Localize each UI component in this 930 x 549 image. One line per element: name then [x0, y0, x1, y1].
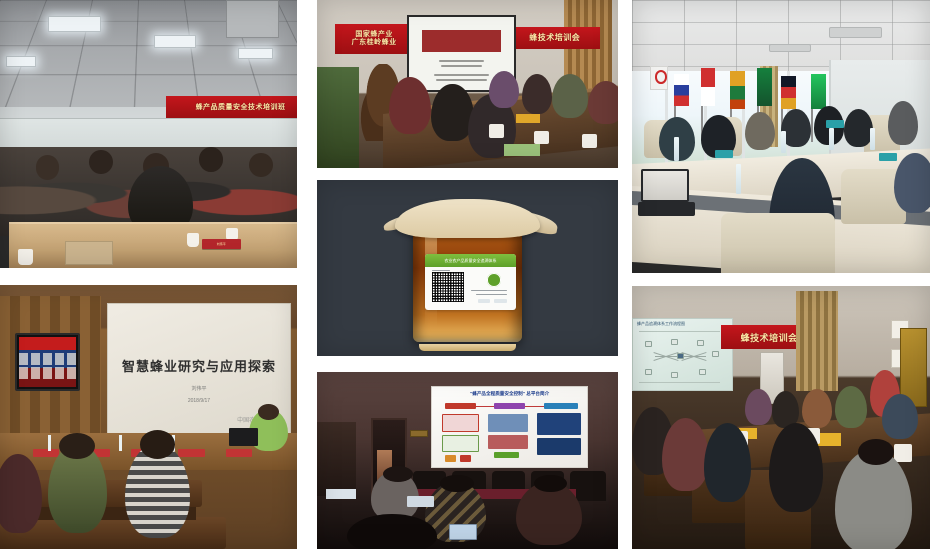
yellow-folder: [516, 114, 540, 122]
tea-cup: [582, 134, 597, 147]
attendee-head: [89, 150, 113, 174]
network-node: [645, 341, 652, 347]
foreground-attendee: [769, 423, 823, 512]
scene-honey-jar: 农业农产品质量安全追溯体系: [317, 180, 618, 356]
water-bottle: [829, 128, 834, 150]
flag: [811, 74, 826, 109]
attendee: [522, 74, 552, 114]
network-node: [645, 369, 652, 375]
slide-panel: [442, 435, 479, 452]
teal-box: [715, 150, 733, 158]
slide-title: 智慧蜂业研究与应用探索: [108, 356, 290, 375]
bookshelf: [317, 422, 356, 496]
ceiling-light: [48, 16, 101, 32]
photo-bottom-center[interactable]: "蜂产品全程质量安全控制" 总平台简介: [317, 372, 618, 549]
wall-tv[interactable]: [15, 333, 80, 391]
name-plate: 刘伟平: [202, 239, 241, 250]
slide-icon: [494, 452, 519, 458]
scene-meeting-room: 国家蜂产业 广东桂岭蜂业 蜂技术培训会: [317, 0, 618, 168]
office-chair-foreground: [721, 213, 834, 273]
qr-code: [432, 272, 465, 301]
jar-base: [419, 344, 515, 351]
slide-node: [544, 403, 578, 409]
attendee-head: [36, 155, 60, 179]
slide-panel: [488, 435, 528, 449]
projection-screen: 蜂产品追溯体系工作流程图: [632, 318, 733, 392]
slide-panel: [537, 438, 580, 455]
laptop-keyboard[interactable]: [638, 202, 695, 216]
attendee: [489, 71, 519, 108]
tea-cup: [894, 444, 912, 462]
tea-cup: [489, 124, 504, 137]
slide-date: 2018/9/17: [108, 398, 290, 404]
ceiling-light: [154, 35, 196, 48]
flag: [730, 71, 745, 109]
flag: [701, 68, 716, 106]
ac-unit: [226, 0, 279, 38]
attendee-head: [199, 147, 223, 171]
yellow-folder: [817, 433, 841, 446]
attendee: [588, 81, 618, 125]
scene-training-meeting: 蜂产品追溯体系工作流程图 蜂技术培训会: [632, 286, 930, 549]
standing-photographer: [888, 101, 918, 145]
banner-right: 蜂技术培训会: [510, 27, 600, 49]
attendee-head: [249, 153, 273, 177]
flag: [674, 74, 689, 107]
photo-center-honey-jar[interactable]: 农业农产品质量安全追溯体系: [317, 180, 618, 356]
banner-left: 国家蜂产业 广东桂岭蜂业: [335, 24, 413, 54]
audience-head: [440, 475, 473, 493]
ceiling-light: [6, 56, 36, 67]
attendee: [894, 153, 930, 213]
presenter-head: [258, 404, 279, 420]
laptop-screen: [407, 496, 434, 507]
side-cabinet: [317, 67, 359, 168]
wall-plaque: [410, 430, 428, 437]
projection-screen: "蜂产品全程质量安全控制" 总平台简介: [431, 386, 588, 467]
audience-head: [383, 466, 413, 482]
paper-cup: [18, 249, 33, 265]
attendee: [745, 389, 772, 426]
water-bottle: [736, 164, 741, 194]
cardboard-box: [65, 241, 113, 265]
network-node: [712, 351, 719, 357]
flag: [757, 68, 772, 106]
slide-title-block: [422, 30, 501, 52]
slide-panel: [488, 414, 528, 431]
slide-node: [494, 403, 525, 409]
scene-lecture-hall: 智慧蜂业研究与应用探索 刘伟平 2018/9/17 中国农业科学院: [0, 285, 297, 549]
banner-left-line2: 广东桂岭蜂业: [352, 39, 397, 46]
attendee: [882, 394, 918, 439]
teal-box: [826, 120, 844, 128]
name-plate: [226, 449, 253, 457]
slide-panel: [442, 414, 479, 431]
network-node: [671, 372, 678, 378]
cloth-jar-cover: [395, 199, 539, 238]
network-node: [697, 340, 704, 346]
banner-top-left: 蜂产品质量安全技术培训班: [166, 96, 297, 117]
slide-node: [445, 403, 476, 409]
attendee: [745, 112, 775, 150]
audience-head: [534, 475, 567, 493]
laptop-screen[interactable]: [641, 169, 689, 202]
air-vent: [829, 27, 883, 38]
table-papers: [326, 489, 356, 500]
network-node: [671, 339, 678, 345]
window-curtain: [796, 291, 838, 391]
scene-dark-presentation: "蜂产品全程质量安全控制" 总平台简介: [317, 372, 618, 549]
presenter-laptop: [229, 428, 259, 446]
attendee: [835, 386, 868, 428]
photo-bottom-right[interactable]: 蜂产品追溯体系工作流程图 蜂技术培训会: [632, 286, 930, 549]
paper-cup: [187, 233, 199, 246]
tea-cup: [534, 131, 549, 144]
flag: [781, 76, 796, 109]
green-seal-logo: [487, 273, 501, 287]
name-plate: [178, 449, 205, 457]
slide-icon: [445, 455, 456, 461]
attendee: [552, 74, 588, 118]
teal-box: [879, 153, 897, 161]
slide-title: "蜂产品全程质量安全控制" 总平台简介: [432, 391, 587, 397]
attendee: [802, 389, 832, 428]
name-plate: [33, 449, 60, 457]
water-bottle: [870, 128, 875, 150]
slide-presenter: 刘伟平: [108, 385, 290, 392]
network-center-node: [677, 353, 684, 359]
front-desk: [9, 222, 297, 268]
slide-icon: [460, 455, 471, 461]
network-node: [699, 369, 706, 375]
ceiling-light: [238, 48, 274, 59]
water-bottle: [781, 131, 786, 153]
banner-left-line1: 国家蜂产业: [355, 31, 393, 38]
label-header: 农业农产品质量安全追溯体系: [425, 254, 515, 268]
attendee-head: [858, 439, 894, 465]
traceability-label: 农业农产品质量安全追溯体系: [425, 254, 515, 310]
photo-top-left[interactable]: 蜂产品质量安全技术培训班 刘伟平: [0, 0, 297, 268]
photo-collage: 蜂产品质量安全技术培训班 刘伟平 国家蜂产业 广东桂岭蜂业 蜂技术: [0, 0, 930, 549]
green-booklet: [504, 144, 540, 156]
phone-screen: [449, 524, 476, 540]
no-smoking-sign: [650, 66, 668, 91]
slide-map: [537, 413, 580, 435]
scene-training-hall: 蜂产品质量安全技术培训班 刘伟平: [0, 0, 297, 268]
scene-boardroom-flags: [632, 0, 930, 273]
audience-head: [59, 433, 95, 459]
photo-top-center[interactable]: 国家蜂产业 广东桂岭蜂业 蜂技术培训会: [317, 0, 618, 168]
slide-title: 蜂产品追溯体系工作流程图: [637, 321, 685, 327]
water-bottle: [119, 435, 122, 451]
water-bottle: [674, 137, 679, 162]
attendee: [844, 109, 874, 147]
water-bottle: [48, 435, 51, 451]
photo-top-right[interactable]: [632, 0, 930, 273]
air-vent: [769, 44, 811, 52]
photo-bottom-left[interactable]: 智慧蜂业研究与应用探索 刘伟平 2018/9/17 中国农业科学院: [0, 285, 297, 549]
